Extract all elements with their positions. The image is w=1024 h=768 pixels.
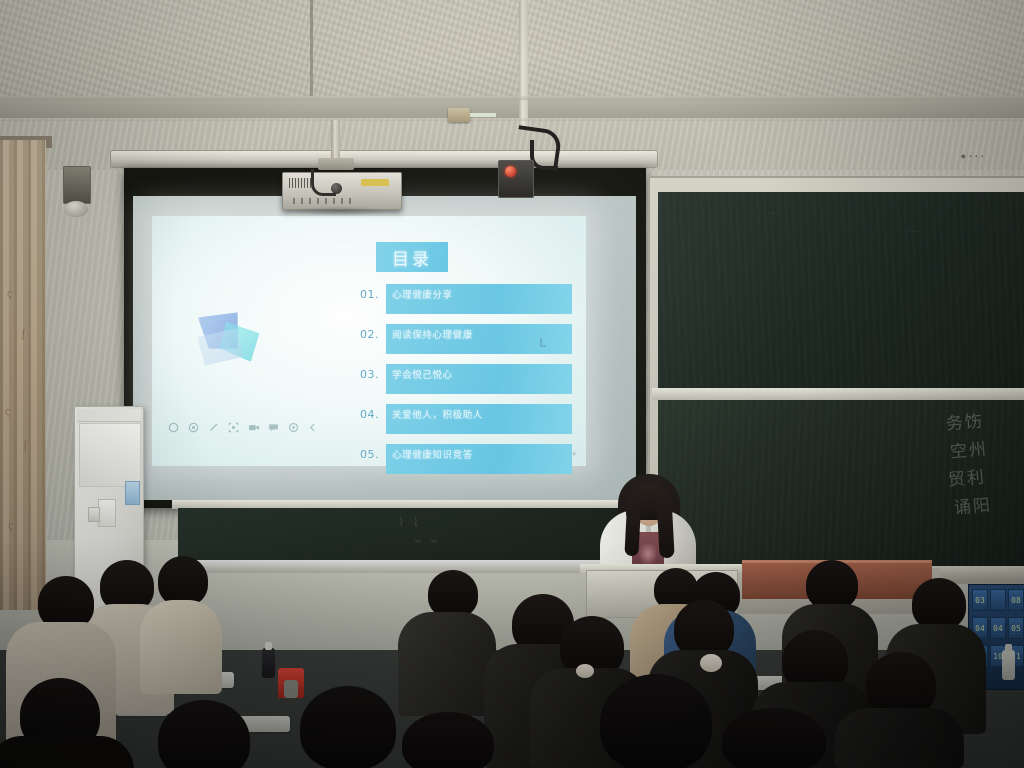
- water-bottle: [1002, 650, 1015, 680]
- projector-label: [361, 179, 389, 186]
- chalk-writing: 诵阳: [953, 494, 993, 519]
- screen-roller-housing: [110, 150, 658, 168]
- rack-cell: 03: [972, 589, 988, 611]
- chalk-writing: 空州: [949, 438, 989, 463]
- chalk-faint-mark: …: [908, 222, 921, 235]
- rack-row: 04 04 05: [971, 617, 1024, 639]
- classroom-scene: ʕ ʃ ʕ ʃ ʕ ◆ ▪ ▪ ▪ 目录 01. 心理健康分享: [0, 0, 1024, 768]
- water-bottle: [262, 648, 275, 678]
- toc-bar: 心理健康分享: [386, 284, 572, 314]
- projector-buttons: [293, 198, 353, 204]
- chalk-writing: 务饬: [945, 410, 985, 435]
- ac-control-panel[interactable]: [98, 499, 116, 527]
- blackboard-ledge: [652, 388, 1024, 400]
- projector-mount-rod: [331, 120, 340, 162]
- slide-title-box: 目录: [376, 242, 448, 272]
- ac-badge: [125, 481, 140, 505]
- projector-vent: [289, 178, 311, 188]
- ceiling-fixture: [448, 108, 470, 122]
- toc-label: 阅读保持心理健康: [386, 324, 473, 341]
- blackboard-lower: 务饬 空州 贸利 诵阳: [658, 400, 1024, 566]
- slide-watermark: ✦: [570, 449, 578, 460]
- speaker-dome-icon: [64, 201, 88, 217]
- ac-display: [88, 507, 100, 522]
- toc-number: 02.: [360, 324, 386, 341]
- wall-speaker: [63, 166, 91, 204]
- video-icon[interactable]: [248, 422, 259, 433]
- slide-content: 目录 01. 心理健康分享 02. 阅读保持心理健康 03.: [152, 216, 586, 466]
- toc-number: 01.: [360, 284, 386, 301]
- rack-row: 03 08: [971, 589, 1024, 611]
- chalk-faint-mark: …: [768, 204, 781, 217]
- left-blackboard: ⌇ ⌇ ⌁ ⌁: [178, 508, 650, 562]
- ceiling-projector: [282, 172, 402, 210]
- settings-icon[interactable]: [288, 422, 299, 433]
- rack-cell: 08: [1008, 589, 1024, 611]
- toc-label: 学会悦己悦心: [386, 364, 453, 381]
- ceiling-conduit: [0, 118, 1024, 121]
- rack-cell: 04: [990, 617, 1006, 639]
- rack-cell: [990, 589, 1006, 611]
- record-icon[interactable]: [168, 422, 179, 433]
- rack-cell: 05: [1008, 617, 1024, 639]
- chalk-writing: 贸利: [947, 466, 987, 491]
- ac-top-vent: [77, 409, 141, 422]
- slide-title-text: 目录: [392, 245, 432, 270]
- toc-label: 关爱他人，积极助人: [386, 404, 483, 421]
- toc-number: 04.: [360, 404, 386, 421]
- toc-item[interactable]: 01. 心理健康分享: [360, 284, 572, 318]
- ceiling-strip: [470, 113, 496, 117]
- ceiling-camera: [498, 160, 534, 198]
- toc-label: 心理健康知识竞答: [386, 444, 473, 461]
- ceiling-conduit: [0, 96, 1024, 100]
- projector-cable: [311, 169, 336, 196]
- camera-led-icon: [505, 166, 516, 177]
- toc-bar: 学会悦己悦心: [386, 364, 572, 394]
- hair-scrunchie: [700, 654, 722, 672]
- pen-icon[interactable]: [208, 422, 219, 433]
- toc-item[interactable]: 04. 关爱他人，积极助人: [360, 404, 572, 438]
- slide-decoration-shape: [196, 302, 262, 364]
- toc-item[interactable]: 03. 学会悦己悦心: [360, 364, 572, 398]
- window-curtain: ʕ ʃ ʕ ʃ ʕ: [0, 140, 46, 610]
- toc-item[interactable]: 05. 心理健康知识竞答: [360, 444, 572, 478]
- presentation-toolbar[interactable]: [168, 422, 319, 433]
- camera-arm-lower: [530, 140, 558, 170]
- circle-icon[interactable]: [188, 422, 199, 433]
- toc-bar: 关爱他人，积极助人: [386, 404, 572, 434]
- hair-clip: [576, 664, 594, 678]
- ceiling-pipe-vertical: [519, 0, 528, 128]
- ceiling-seam: [310, 0, 313, 100]
- toc-number: 05.: [360, 444, 386, 461]
- ceiling: [0, 0, 1024, 100]
- comment-icon[interactable]: [268, 422, 279, 433]
- toc-bar: 心理健康知识竞答: [386, 444, 572, 474]
- slide-toc-list: 01. 心理健康分享 02. 阅读保持心理健康 03. 学会悦己悦心: [360, 284, 572, 484]
- screenshot-icon[interactable]: [228, 422, 239, 433]
- blackboard-upper: … …: [658, 192, 1024, 388]
- ac-grille: [79, 423, 141, 487]
- projected-slide[interactable]: 目录 01. 心理健康分享 02. 阅读保持心理健康 03.: [152, 216, 586, 466]
- chevron-left-icon[interactable]: [308, 422, 319, 433]
- toc-number: 03.: [360, 364, 386, 381]
- housing-label: ◆ ▪ ▪ ▪: [961, 153, 984, 160]
- red-stool: [278, 668, 304, 698]
- toc-label: 心理健康分享: [386, 284, 453, 301]
- mouse-cursor: [540, 338, 547, 347]
- projector-shadow: [290, 206, 390, 216]
